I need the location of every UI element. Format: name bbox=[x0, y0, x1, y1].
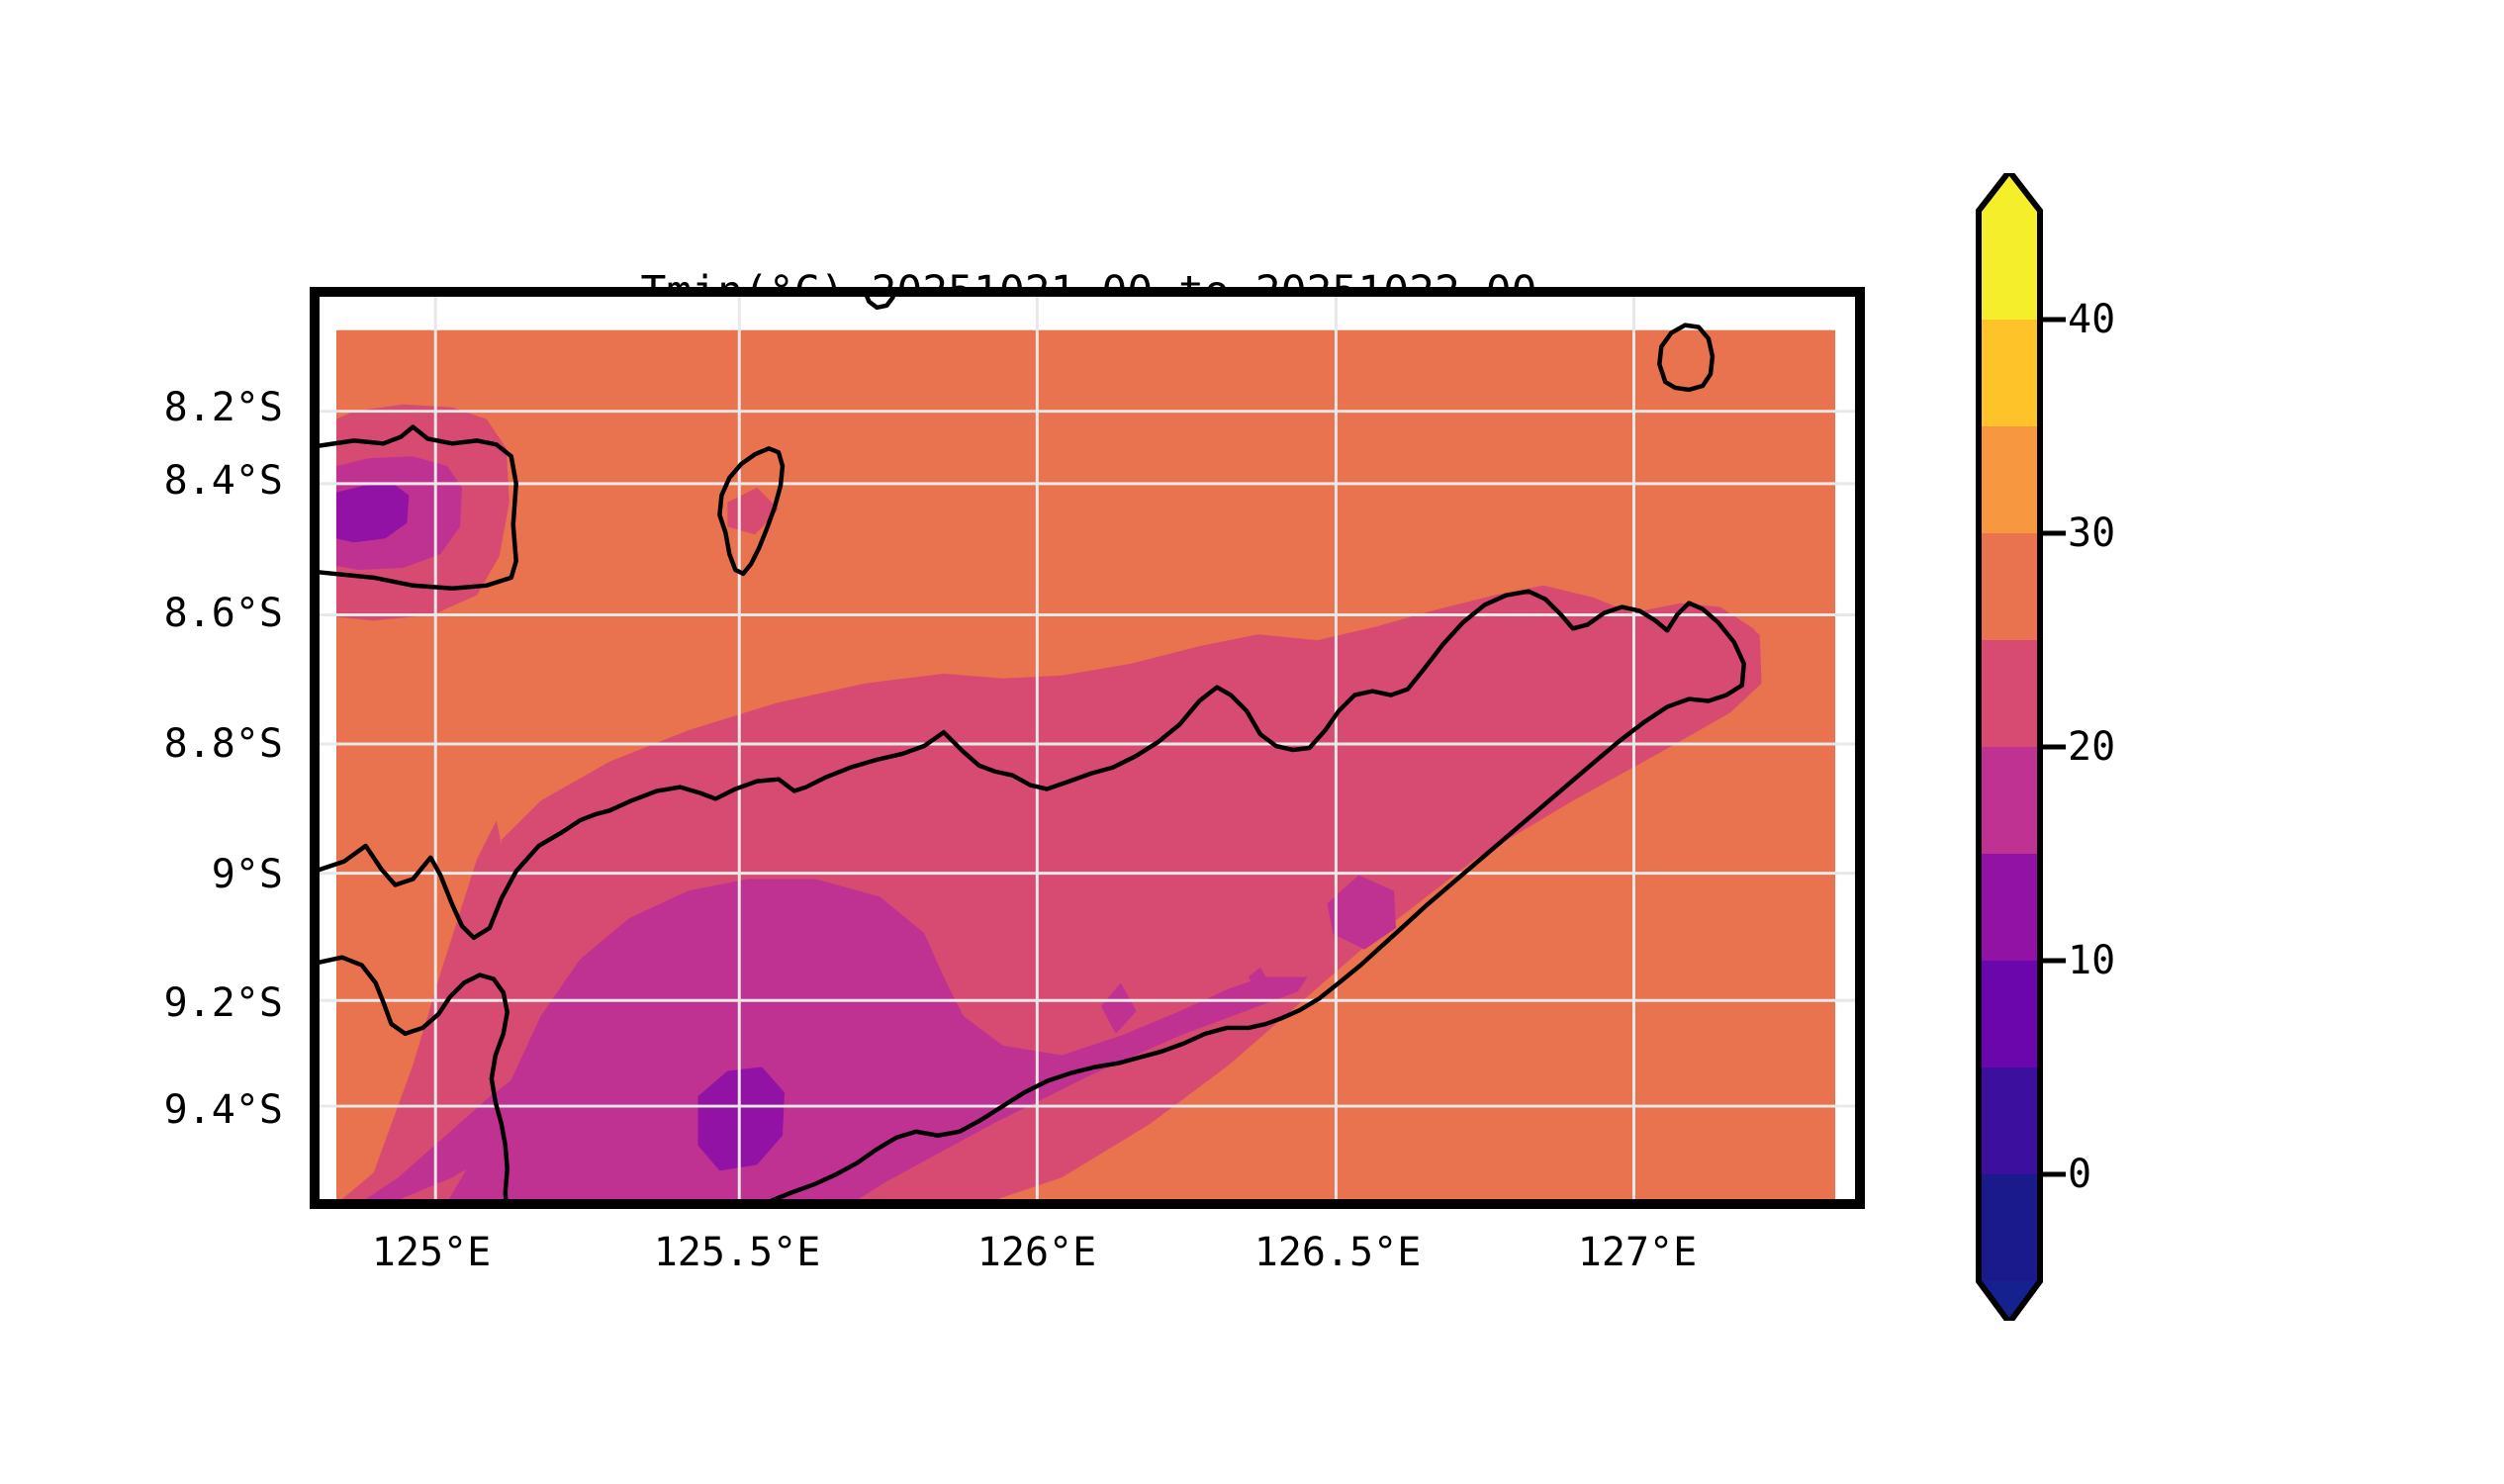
colorbar-band-30-35 bbox=[1979, 426, 2040, 533]
ytick-label-9-2s: 9.2°S bbox=[164, 980, 283, 1026]
map-plot-area bbox=[315, 292, 1860, 1204]
colorbar-tick-label-0: 0 bbox=[2068, 1152, 2091, 1197]
colorbar-band-0-5 bbox=[1979, 1067, 2040, 1174]
xtick-label-125-5e: 125.5°E bbox=[654, 1230, 821, 1275]
contour-fill-group bbox=[336, 330, 1835, 1204]
ytick-label-8-4s: 8.4°S bbox=[164, 458, 283, 504]
colorbar-band-5-10 bbox=[1979, 961, 2040, 1067]
colorbar-tick-label-20: 20 bbox=[2068, 724, 2115, 770]
ytick-label-8-2s: 8.2°S bbox=[164, 385, 283, 430]
colorbar-band-10-15 bbox=[1979, 854, 2040, 961]
contour-map-svg bbox=[315, 292, 1860, 1204]
colorbar-tick-label-30: 30 bbox=[2068, 510, 2115, 556]
xtick-label-126e: 126°E bbox=[977, 1230, 1096, 1275]
colorbar-extend-bottom-arrow bbox=[1979, 1281, 2040, 1321]
colorbar-band-35-40 bbox=[1979, 320, 2040, 426]
xtick-label-125e: 125°E bbox=[372, 1230, 491, 1275]
colorbar-extend-top-arrow bbox=[1979, 173, 2040, 211]
colorbar-band-15-20 bbox=[1979, 747, 2040, 854]
colorbar-tick-label-40: 40 bbox=[2068, 297, 2115, 342]
ytick-label-9s: 9°S bbox=[212, 852, 283, 897]
map-axes bbox=[310, 287, 1865, 1209]
colorbar-band-minus5-0 bbox=[1979, 1174, 2040, 1281]
colorbar-band-40-45 bbox=[1979, 211, 2040, 320]
colorbar-svg bbox=[1971, 173, 2268, 1321]
ytick-label-8-8s: 8.8°S bbox=[164, 721, 283, 767]
ytick-label-9-4s: 9.4°S bbox=[164, 1087, 283, 1133]
colorbar-band-25-30 bbox=[1979, 533, 2040, 640]
colorbar-band-20-25 bbox=[1979, 640, 2040, 747]
colorbar-tick-label-10: 10 bbox=[2068, 938, 2115, 983]
figure-canvas: Tmin(°C) 20251021_00 to 20251022_00 Simu… bbox=[0, 0, 2504, 1484]
ytick-label-8-6s: 8.6°S bbox=[164, 591, 283, 636]
xtick-label-127e: 127°E bbox=[1578, 1230, 1697, 1275]
colorbar bbox=[1971, 173, 2268, 1321]
colorbar-tick-marks bbox=[2040, 320, 2066, 1174]
xtick-label-126-5e: 126.5°E bbox=[1254, 1230, 1422, 1275]
